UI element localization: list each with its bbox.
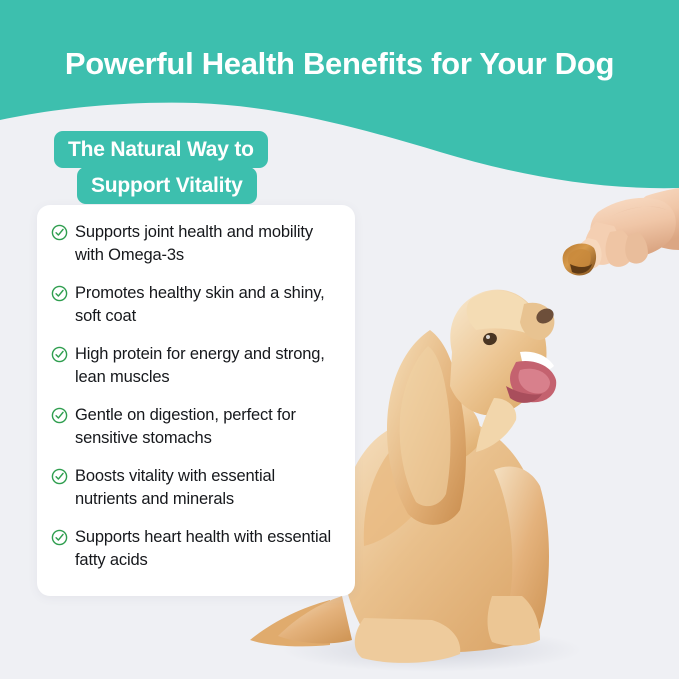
benefit-label: Boosts vitality with essential nutrients…	[75, 465, 341, 511]
benefit-label: Supports joint health and mobility with …	[75, 221, 341, 267]
check-circle-icon	[51, 285, 68, 302]
list-item: Supports joint health and mobility with …	[51, 221, 341, 267]
benefits-card: Supports joint health and mobility with …	[37, 205, 355, 596]
list-item: Promotes healthy skin and a shiny, soft …	[51, 282, 341, 328]
page-title: Powerful Health Benefits for Your Dog	[0, 45, 679, 83]
badge-natural-way: The Natural Way to Support Vitality	[54, 131, 334, 204]
list-item: High protein for energy and strong, lean…	[51, 343, 341, 389]
benefit-label: High protein for energy and strong, lean…	[75, 343, 341, 389]
benefit-label: Supports heart health with essential fat…	[75, 526, 341, 572]
badge-line-2: Support Vitality	[77, 167, 257, 204]
check-circle-icon	[51, 346, 68, 363]
benefit-label: Promotes healthy skin and a shiny, soft …	[75, 282, 341, 328]
check-circle-icon	[51, 407, 68, 424]
check-circle-icon	[51, 468, 68, 485]
check-circle-icon	[51, 529, 68, 546]
benefits-list: Supports joint health and mobility with …	[51, 221, 341, 572]
check-circle-icon	[51, 224, 68, 241]
list-item: Boosts vitality with essential nutrients…	[51, 465, 341, 511]
list-item: Gentle on digestion, perfect for sensiti…	[51, 404, 341, 450]
poster-root: Powerful Health Benefits for Your Dog Su…	[0, 0, 679, 679]
list-item: Supports heart health with essential fat…	[51, 526, 341, 572]
badge-line-1: The Natural Way to	[54, 131, 268, 168]
benefit-label: Gentle on digestion, perfect for sensiti…	[75, 404, 341, 450]
